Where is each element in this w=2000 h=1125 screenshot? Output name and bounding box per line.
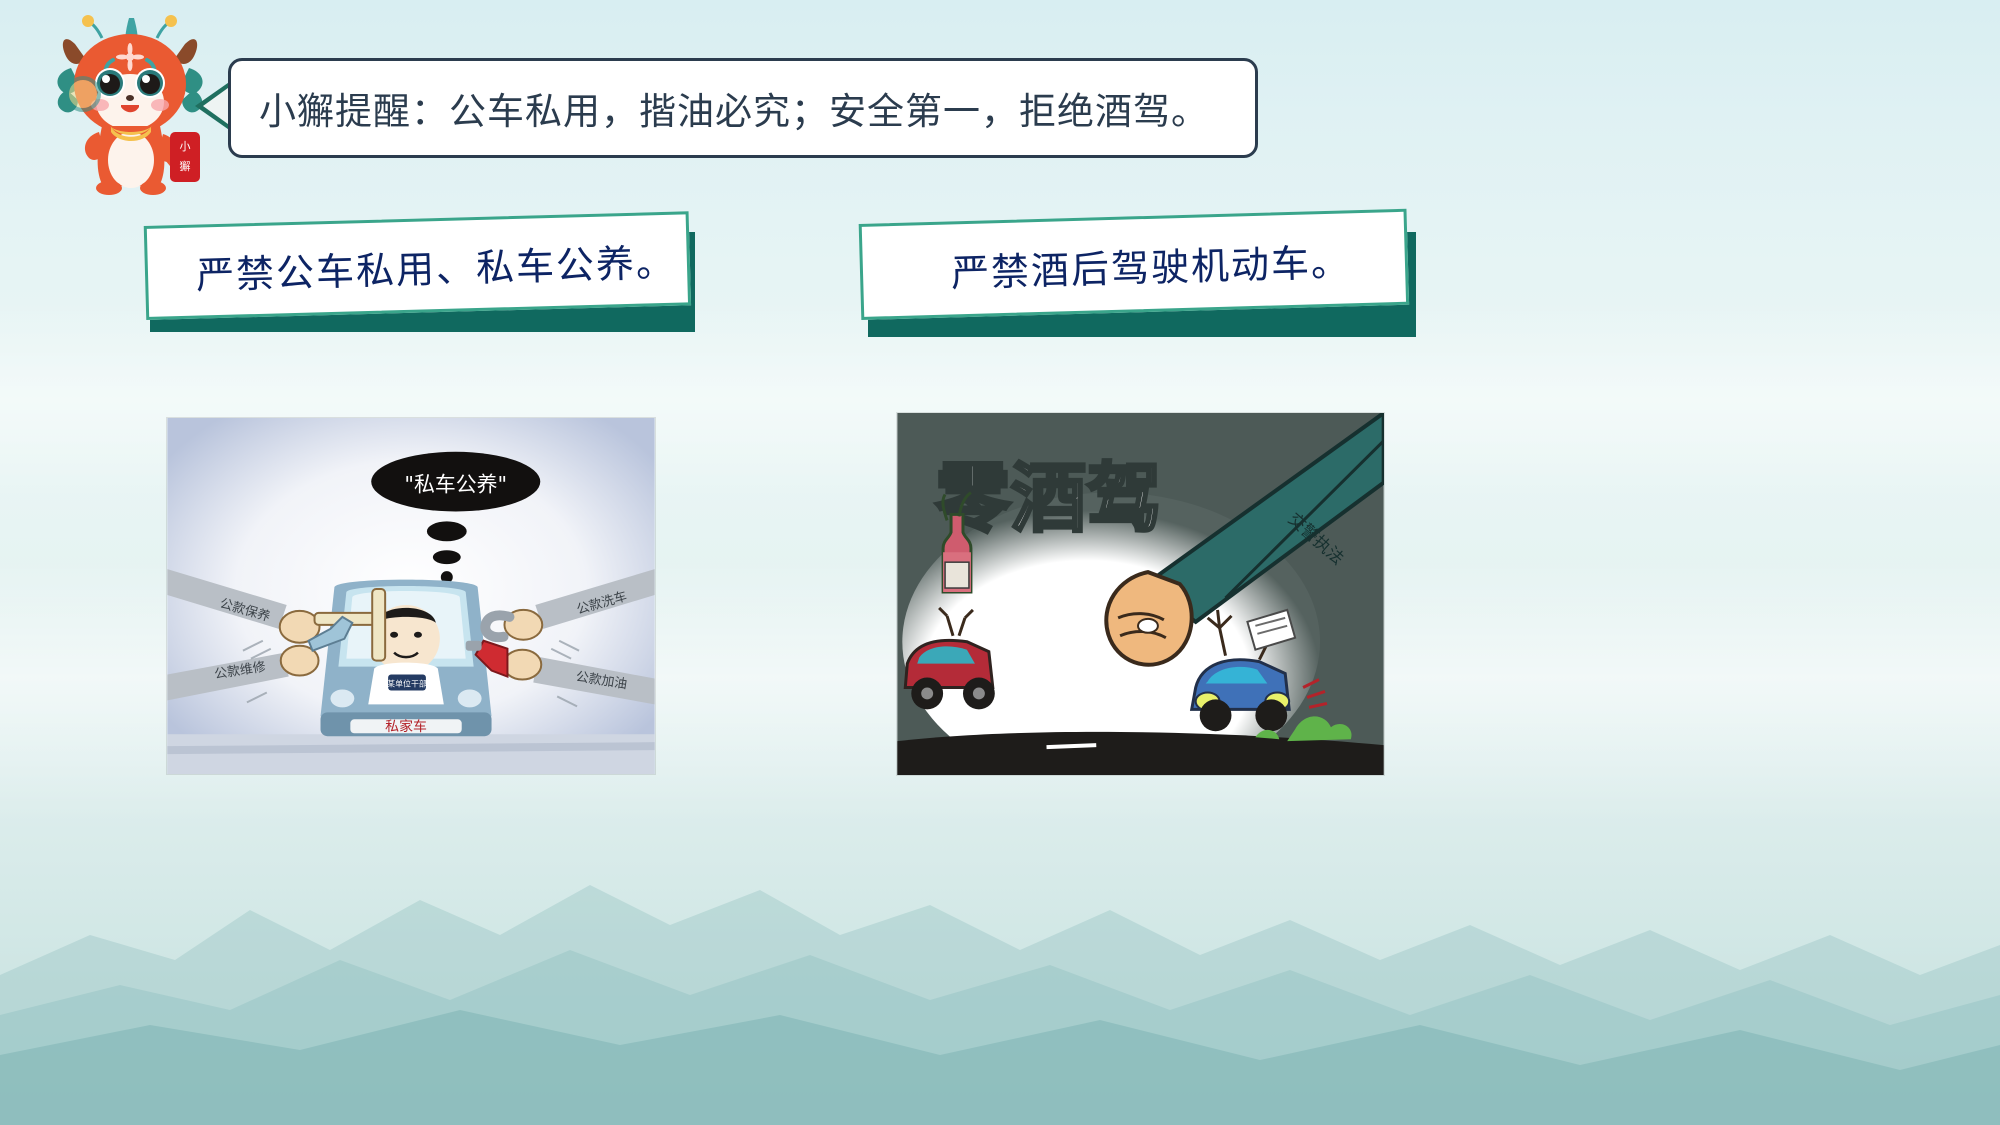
svg-text:私家车: 私家车	[385, 718, 427, 735]
svg-text:零酒驾: 零酒驾	[935, 454, 1162, 542]
svg-text:獬: 獬	[180, 159, 191, 173]
banner-left-text: 严禁公车私用、私车公养。	[195, 231, 676, 299]
svg-text:"私车公养": "私车公养"	[404, 473, 507, 497]
banner-right-plate: 严禁酒后驾驶机动车。	[859, 209, 1409, 320]
svg-text:某单位干部: 某单位干部	[387, 678, 427, 688]
mascot-seal-stamp: 小 獬	[168, 130, 202, 184]
illustration-zero-drunk-driving: 零酒驾 交警执法	[896, 412, 1385, 776]
slide-canvas: 小 獬 小獬提醒：公车私用，揩油必究；安全第一，拒绝酒驾。 严禁公车私用、私车公…	[0, 0, 2000, 1125]
banner-left: 严禁公车私用、私车公养。	[145, 200, 705, 345]
banner-right-text: 严禁酒后驾驶机动车。	[950, 231, 1351, 297]
illustration-private-car-public-funds: "私车公养" 私家车 某单位干部 公款	[166, 417, 656, 775]
speech-bubble: 小獬提醒：公车私用，揩油必究；安全第一，拒绝酒驾。	[228, 58, 1258, 158]
banner-left-plate: 严禁公车私用、私车公养。	[144, 211, 691, 320]
speech-bubble-text: 小獬提醒：公车私用，揩油必究；安全第一，拒绝酒驾。	[259, 81, 1209, 135]
banner-right: 严禁酒后驾驶机动车。	[860, 200, 1425, 350]
mountain-layer-near	[0, 875, 2000, 1125]
svg-text:小: 小	[180, 140, 191, 153]
